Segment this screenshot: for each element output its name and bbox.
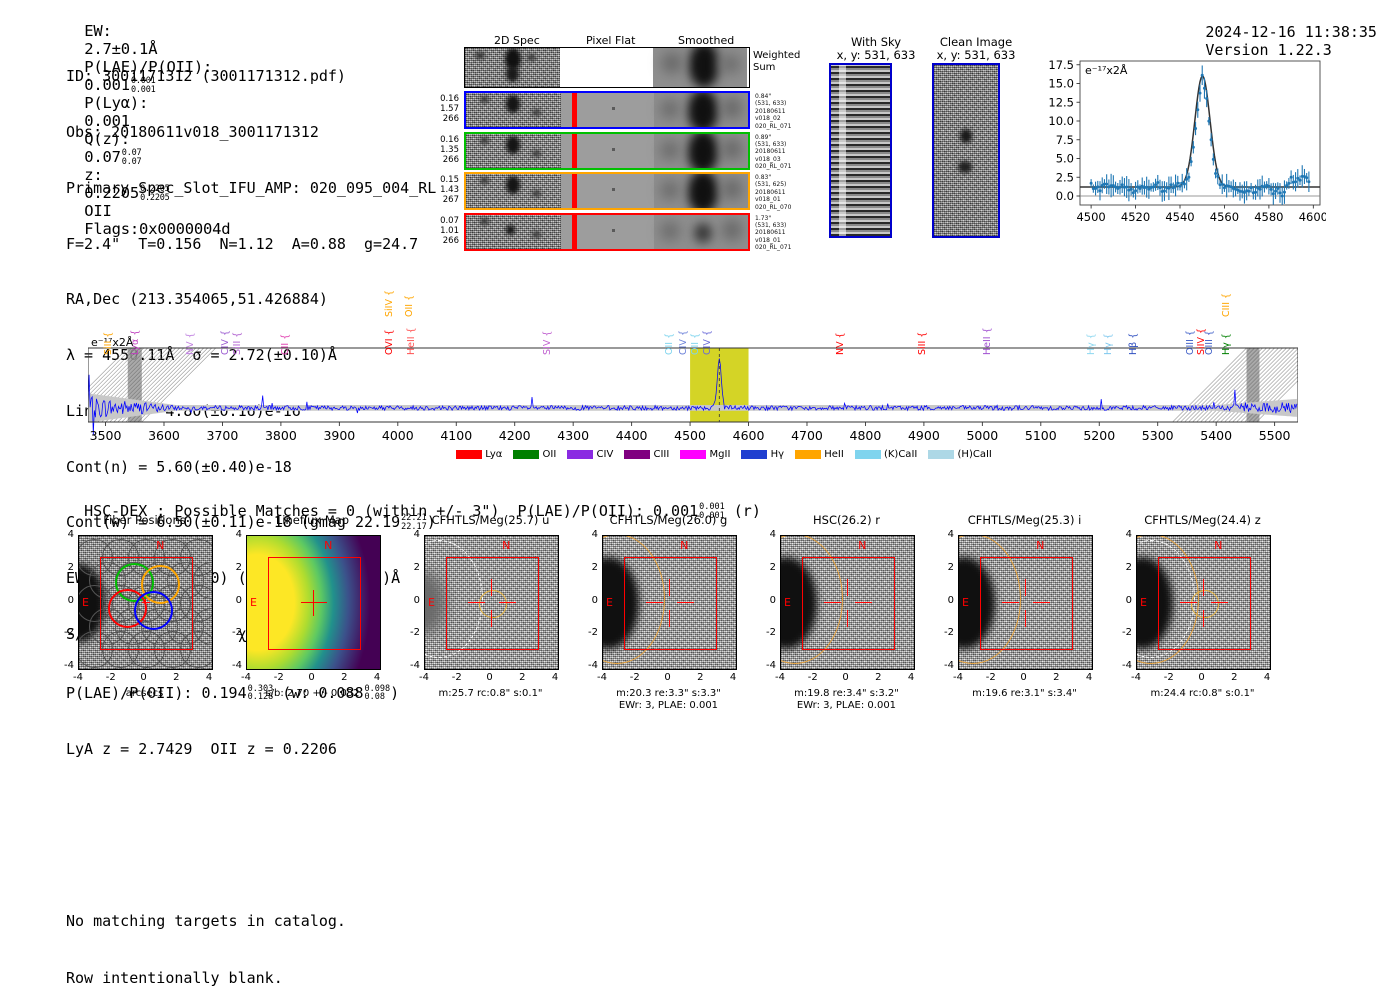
weighted-sum-strip [464, 47, 750, 88]
cutout-xtick: 2 [334, 672, 354, 683]
cutout-title-5: CFHTLS/Meg(25.3) i [924, 513, 1125, 527]
crosshair [79, 536, 212, 669]
legend-item-MgII: MgII [680, 449, 730, 460]
fiber-meta-line: 20180611 [755, 189, 815, 196]
cutout-title-3: CFHTLS/Meg(26.0) g [568, 513, 769, 527]
fiber-meta-line: v018_01 [755, 196, 815, 203]
spectrum-xtick: 3600 [148, 428, 180, 443]
cutout-xtick: 2 [868, 672, 888, 683]
cutout-xtick: 4 [1257, 672, 1277, 683]
cutout-xtick: -2 [803, 672, 823, 683]
title-pixel-flat: Pixel Flat [586, 34, 635, 47]
cutout-ytick: 0 [758, 595, 776, 606]
cutout-ytick: 4 [402, 529, 420, 540]
fiber-meta-line: (531, 633) [755, 100, 815, 107]
cutout-xtick: -4 [948, 672, 968, 683]
emission-line-marker-Hγ: Hγ { [1086, 333, 1097, 355]
fiber-stat-value: 0.07 [431, 216, 459, 226]
cutout-title-4: HSC(26.2) r [746, 513, 947, 527]
legend-swatch [795, 450, 821, 459]
legend-swatch [513, 450, 539, 459]
fiber-stats-0: 0.161.57266 [431, 94, 459, 124]
fiber-meta-line: v018_03 [755, 156, 815, 163]
cutout-ytick: -2 [758, 627, 776, 638]
spectrum-xtick: 4400 [616, 428, 648, 443]
fiber-stat-value: 266 [431, 236, 459, 246]
cutout-xtick: 2 [1046, 672, 1066, 683]
cutout-xtick: -2 [1159, 672, 1179, 683]
legend-swatch [928, 450, 954, 459]
fiber-stat-value: 0.16 [431, 94, 459, 104]
clean-image-title: Clean Image x, y: 531, 633 [926, 36, 1026, 62]
crosshair [1137, 536, 1270, 669]
cutout-ytick: -4 [224, 660, 242, 671]
fiber-meta-line: 1.73" [755, 215, 815, 222]
emission-line-marker-Lyα: Lyα { [130, 330, 141, 355]
legend-label: MgII [710, 449, 731, 460]
emission-line-marker-OVI: OVI { [384, 329, 395, 355]
title-smoothed: Smoothed [678, 34, 734, 47]
fiber-meta-line: 0.89" [755, 134, 815, 141]
legend-swatch [680, 450, 706, 459]
ytick: 15.0 [1048, 77, 1074, 91]
legend-item-CIII: CIII [624, 449, 669, 460]
legend-label: CIV [597, 449, 614, 460]
fiber-stats-3: 0.071.01266 [431, 216, 459, 246]
cutout-ytick: 4 [224, 529, 242, 540]
fiber-meta-line: 0.84" [755, 93, 815, 100]
cutout-xtick: -2 [101, 672, 121, 683]
cutout-ytick: 0 [56, 595, 74, 606]
cutout-xtick: -4 [1126, 672, 1146, 683]
cutout-xtick: 4 [367, 672, 387, 683]
clean-image-coords: x, y: 531, 633 [926, 49, 1026, 62]
fiber-stat-value: 266 [431, 114, 459, 124]
legend-label: Lyα [485, 449, 502, 460]
weighted-sum-label: WeightedSum [753, 50, 800, 74]
cutout-xtick: 0 [302, 672, 322, 683]
spectrum-xtick: 3800 [265, 428, 297, 443]
emission-line-marker-CIV: CIV { [220, 330, 231, 355]
fiber-stats-2: 0.151.43267 [431, 175, 459, 205]
spectrum-xtick: 4900 [908, 428, 940, 443]
cutout-xtick: 0 [1014, 672, 1034, 683]
cutout-xtick: 0 [658, 672, 678, 683]
xtick: 4600 [1299, 210, 1326, 224]
emission-line-marker-SiII: SiII { [917, 332, 928, 355]
cutout-ytick: -4 [1114, 660, 1132, 671]
legend-item-CIV: CIV [567, 449, 613, 460]
cutout-ytick: -4 [936, 660, 954, 671]
cutout-image-2[interactable]: NE [424, 535, 559, 670]
legend-label: (K)CaII [884, 449, 917, 460]
emission-line-marker-OIII: OIII { [1204, 330, 1215, 355]
legend-swatch [456, 450, 482, 459]
cutout-ytick: -2 [402, 627, 420, 638]
cutout-image-6[interactable]: NE [1136, 535, 1271, 670]
crosshair [247, 536, 380, 669]
cutout-ytick: 0 [580, 595, 598, 606]
fiber-meta-line: (531, 633) [755, 222, 815, 229]
emission-line-marker-OII: OII { [404, 295, 415, 317]
xtick: 4540 [1165, 210, 1194, 224]
emission-line-marker-SiIV: SiIV { [384, 290, 395, 317]
cutout-ytick: -4 [402, 660, 420, 671]
cutout-ytick: 0 [402, 595, 420, 606]
fiber-meta-3: 1.73"(531, 633)20180611v018_01020_RL_071 [755, 215, 815, 252]
fiber-meta-line: (531, 633) [755, 141, 815, 148]
cutout-ytick: 2 [936, 562, 954, 573]
info-redshifts: LyA z = 2.7429 OII z = 0.2206 [66, 740, 436, 759]
crosshair [603, 536, 736, 669]
legend-swatch [624, 450, 650, 459]
bottom-note-line1: No matching targets in catalog. [66, 912, 346, 931]
cutout-ytick: -4 [580, 660, 598, 671]
cutout-xtick: 0 [134, 672, 154, 683]
xtick: 4500 [1076, 210, 1105, 224]
legend-label: OII [543, 449, 557, 460]
emission-line-marker-OIII: OIII { [1185, 330, 1196, 355]
fiber-meta-line: v018_01 [755, 237, 815, 244]
legend-swatch [567, 450, 593, 459]
xtick: 4560 [1210, 210, 1239, 224]
spectrum-xtick: 5200 [1083, 428, 1115, 443]
cutout-ytick: 4 [936, 529, 954, 540]
fiber-stats-1: 0.161.35266 [431, 135, 459, 165]
header-meta: 2024-12-16 11:38:35 Version 1.22.3 [1187, 5, 1386, 59]
legend-label: CIII [653, 449, 669, 460]
title-2d-spec: 2D Spec [494, 34, 540, 47]
cutout-xtick: -2 [269, 672, 289, 683]
north-label: N [1214, 539, 1222, 552]
ytick: 0.0 [1056, 189, 1074, 203]
cutout-ytick: 2 [402, 562, 420, 573]
xtick: 4520 [1121, 210, 1150, 224]
cutout-xtick: 4 [199, 672, 219, 683]
info-id: ID: 3001171312 (3001171312.pdf) [66, 67, 436, 86]
fiber-stat-value: 1.01 [431, 226, 459, 236]
crosshair [959, 536, 1092, 669]
legend-item-(H)CaII: (H)CaII [928, 449, 992, 460]
cutout-xtick: 0 [480, 672, 500, 683]
emission-line-marker-HeII: HeII { [406, 327, 417, 355]
spectrum-xtick: 4500 [674, 428, 706, 443]
legend-item-OII: OII [513, 449, 556, 460]
emission-line-marker-SiII: SiII { [232, 332, 243, 355]
fiber-meta-line: 0.83" [755, 174, 815, 181]
legend-item-(K)CaII: (K)CaII [855, 449, 918, 460]
north-label: N [1036, 539, 1044, 552]
spectrum-xtick: 4700 [791, 428, 823, 443]
cutout-ytick: 2 [580, 562, 598, 573]
fiber-meta-0: 0.84"(531, 633)20180611v018_02020_RL_071 [755, 93, 815, 130]
cutout-ytick: -4 [758, 660, 776, 671]
fiber-meta-2: 0.83"(531, 625)20180611v018_01020_RL_070 [755, 174, 815, 211]
emission-line-marker-CII: CII { [280, 334, 291, 355]
cutout-xtick: 2 [512, 672, 532, 683]
with-sky-image [829, 63, 892, 238]
fiber-meta-line: v018_02 [755, 115, 815, 122]
cutout-xtick: -2 [981, 672, 1001, 683]
cutout-xtick: 4 [545, 672, 565, 683]
emission-line-svg: 0.02.55.07.510.012.515.017.5450045204540… [1036, 55, 1326, 235]
ytick: 2.5 [1056, 170, 1074, 184]
crosshair [425, 536, 558, 669]
ytick: 10.0 [1048, 114, 1074, 128]
emission-line-plot: 0.02.55.07.510.012.515.017.5450045204540… [1036, 55, 1326, 235]
spectrum-xtick: 3500 [90, 428, 122, 443]
north-label: N [156, 539, 164, 552]
north-label: N [858, 539, 866, 552]
cutout-xtick: 2 [166, 672, 186, 683]
cutout-xtick: -2 [625, 672, 645, 683]
cutout-ytick: 0 [224, 595, 242, 606]
fiber-stat-value: 266 [431, 155, 459, 165]
emission-line-marker-CIV: CIV { [702, 330, 713, 355]
fiber-meta-line: 20180611 [755, 229, 815, 236]
bottom-note-line2: Row intentionally blank. [66, 969, 346, 988]
cutout-ytick: 4 [56, 529, 74, 540]
fiber-meta-line: 020_RL_071 [755, 244, 815, 251]
spectrum-xtick: 5100 [1025, 428, 1057, 443]
fiber-panel-3 [464, 213, 750, 251]
spectrum-xtick: 3700 [207, 428, 239, 443]
cutout-xtick: -4 [68, 672, 88, 683]
clean-image [932, 63, 1000, 238]
cutout-xtick: 2 [690, 672, 710, 683]
cutout-ytick: 2 [758, 562, 776, 573]
ytick: 5.0 [1056, 152, 1074, 166]
cutout-ytick: 4 [758, 529, 776, 540]
cutout-ytick: -2 [56, 627, 74, 638]
timestamp: 2024-12-16 11:38:35 [1205, 23, 1377, 41]
legend-label: (H)CaII [958, 449, 992, 460]
cutout-ytick: -2 [936, 627, 954, 638]
xtick: 4580 [1254, 210, 1283, 224]
info-seeing: F=2.4" T=0.156 N=1.12 A=0.88 g=24.7 [66, 235, 436, 254]
info-primary-spec: Primary Spec_Slot_IFU_AMP: 020_095_004_R… [66, 179, 436, 198]
with-sky-title: With Sky x, y: 531, 633 [828, 36, 924, 62]
cutout-ytick: 0 [936, 595, 954, 606]
fiber-panel-0 [464, 91, 750, 129]
legend-label: HeII [824, 449, 844, 460]
emission-line-marker-OII: OII { [664, 333, 675, 355]
emission-line-marker-SiII: SiII { [103, 332, 114, 355]
cutout-xtick: -4 [414, 672, 434, 683]
crosshair [781, 536, 914, 669]
north-label: N [324, 539, 332, 552]
east-label: E [428, 596, 435, 609]
cutout-xtick: 2 [1224, 672, 1244, 683]
cutout-xtick: 4 [901, 672, 921, 683]
fiber-meta-line: 020_RL_070 [755, 204, 815, 211]
spectrum-xtick: 4800 [850, 428, 882, 443]
with-sky-coords: x, y: 531, 633 [828, 49, 924, 62]
fiber-meta-line: (531, 625) [755, 181, 815, 188]
cutout-ytick: -2 [580, 627, 598, 638]
cutout-image-3[interactable]: NE [602, 535, 737, 670]
cutout-xtick: -4 [236, 672, 256, 683]
spectrum-xtick: 5000 [966, 428, 998, 443]
emission-line-marker-Hβ: Hβ { [1128, 333, 1139, 355]
cutout-xtick: -4 [592, 672, 612, 683]
spectrum-xtick: 4200 [499, 428, 531, 443]
east-label: E [606, 596, 613, 609]
spectrum-xtick: 3900 [323, 428, 355, 443]
emission-line-marker-OII: OII { [690, 333, 701, 355]
legend-swatch [855, 450, 881, 459]
east-label: E [250, 596, 257, 609]
east-label: E [1140, 596, 1147, 609]
cutout-ytick: 4 [580, 529, 598, 540]
cutout-ytick: -2 [224, 627, 242, 638]
fiber-stat-value: 0.16 [431, 135, 459, 145]
cutout-caption-6: m:24.4 rc:0.8" s:0.1" [1094, 688, 1311, 700]
cutout-image-4[interactable]: NE [780, 535, 915, 670]
legend-item-Lyα: Lyα [456, 449, 502, 460]
cutout-ytick: 2 [224, 562, 242, 573]
east-label: E [784, 596, 791, 609]
east-label: E [962, 596, 969, 609]
emission-line-marker-SIV: SIV { [542, 331, 553, 355]
fiber-meta-line: 020_RL_071 [755, 163, 815, 170]
legend-item-HeII: HeII [795, 449, 844, 460]
cutout-ytick: 2 [1114, 562, 1132, 573]
cutout-ytick: -2 [1114, 627, 1132, 638]
emission-line-marker-HeII: HeII { [982, 327, 993, 355]
spectrum-xtick: 4600 [733, 428, 765, 443]
fiber-stat-value: 0.15 [431, 175, 459, 185]
fiber-meta-line: 020_RL_071 [755, 123, 815, 130]
flux-units-annotation: e⁻¹⁷x2Å [1085, 64, 1128, 77]
cutout-caption-line2: EWr: 3, PLAE: 0.001 [738, 700, 955, 712]
spectrum-xtick: 5400 [1200, 428, 1232, 443]
bottom-note: No matching targets in catalog. Row inte… [66, 874, 346, 1007]
ytick: 12.5 [1048, 95, 1074, 109]
cutout-title-2: CFHTLS/Meg(25.7) u [390, 513, 591, 527]
spectrum-xtick: 4300 [557, 428, 589, 443]
fiber-panel-2 [464, 172, 750, 210]
fiber-stat-value: 1.35 [431, 145, 459, 155]
ytick: 17.5 [1048, 58, 1074, 72]
full-spectrum-plot: 010e⁻¹⁷x2Å350036003700380039004000410042… [88, 276, 1298, 471]
spectrum-xtick: 4100 [440, 428, 472, 443]
east-label: E [82, 596, 89, 609]
north-label: N [502, 539, 510, 552]
fiber-stat-value: 1.57 [431, 104, 459, 114]
fiber-stat-value: 1.43 [431, 185, 459, 195]
fiber-stat-value: 267 [431, 195, 459, 205]
emission-line-marker-Hγ: Hγ { [1221, 333, 1232, 355]
spectrum-legend: Lyα OII CIV CIII MgII Hγ HeII (K)CaII (H… [456, 442, 1003, 461]
ytick: 7.5 [1056, 133, 1074, 147]
spectrum-xtick: 5300 [1142, 428, 1174, 443]
north-label: N [680, 539, 688, 552]
cutout-caption-line1: m:24.4 rc:0.8" s:0.1" [1094, 688, 1311, 700]
spectrum-xtick: 5500 [1259, 428, 1291, 443]
cutout-title-6: CFHTLS/Meg(24.4) z [1102, 513, 1303, 527]
legend-swatch [741, 450, 767, 459]
cutout-xtick: 4 [1079, 672, 1099, 683]
cutout-ytick: 4 [1114, 529, 1132, 540]
cutout-image-1[interactable]: NE [246, 535, 381, 670]
legend-label: Hγ [771, 449, 784, 460]
cutout-ytick: 0 [1114, 595, 1132, 606]
legend-item-Hγ: Hγ [741, 449, 784, 460]
cutout-ytick: -4 [56, 660, 74, 671]
cutout-image-0[interactable]: NE [78, 535, 213, 670]
fiber-meta-line: 20180611 [755, 108, 815, 115]
emission-line-marker-NV: NV { [835, 332, 846, 355]
cutout-xtick: 4 [723, 672, 743, 683]
cutout-xtick: -4 [770, 672, 790, 683]
fiber-meta-line: 20180611 [755, 148, 815, 155]
emission-line-marker-CIV: CIV { [678, 330, 689, 355]
info-obs: Obs: 20180611v018_3001171312 [66, 123, 436, 142]
emission-line-marker-Hγ: Hγ { [1103, 333, 1114, 355]
cutout-image-5[interactable]: NE [958, 535, 1093, 670]
fiber-meta-1: 0.89"(531, 633)20180611v018_03020_RL_071 [755, 134, 815, 171]
cutout-xtick: -2 [447, 672, 467, 683]
cutout-xtick: 0 [1192, 672, 1212, 683]
cutout-title-1: Lineflux Map [212, 513, 413, 527]
fiber-panel-1 [464, 132, 750, 170]
cutout-ytick: 2 [56, 562, 74, 573]
emission-line-marker-NV: NV { [185, 332, 196, 355]
emission-line-marker-CIII: CIII { [1221, 293, 1232, 317]
cutout-xtick: 0 [836, 672, 856, 683]
spectrum-xtick: 4000 [382, 428, 414, 443]
